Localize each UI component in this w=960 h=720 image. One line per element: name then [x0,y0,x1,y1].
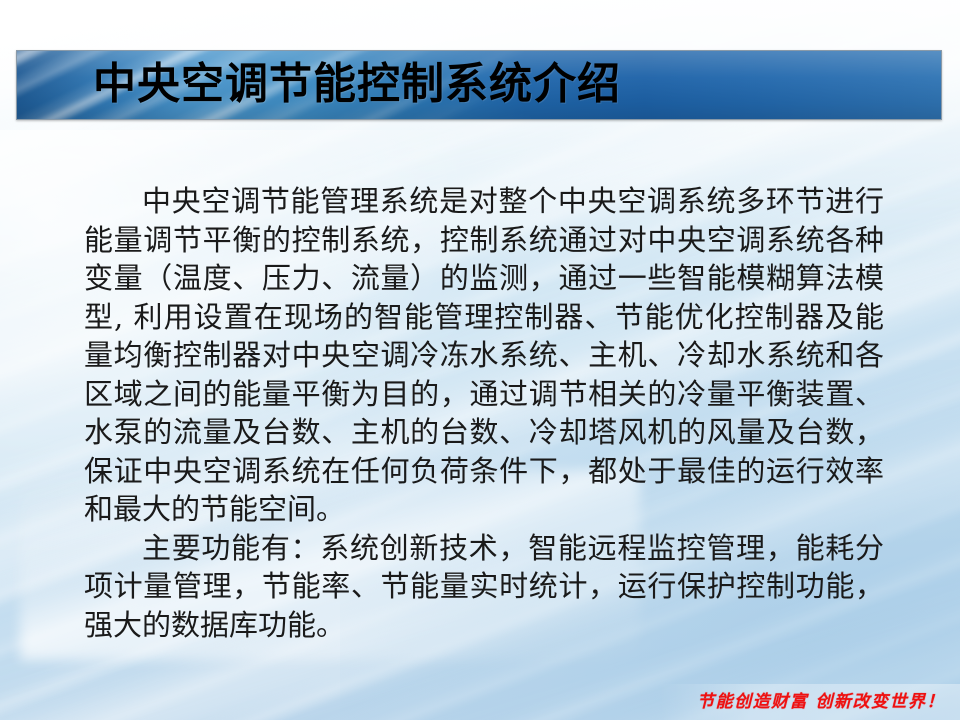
slide-body: 中央空调节能管理系统是对整个中央空调系统多环节进行能量调节平衡的控制系统，控制系… [84,182,884,644]
footer-slogan: 节能创造财富 创新改变世界！ [697,687,945,712]
slide-title: 中央空调节能控制系统介绍 [93,64,621,107]
body-paragraph-1: 中央空调节能管理系统是对整个中央空调系统多环节进行能量调节平衡的控制系统，控制系… [84,182,884,529]
presentation-slide: 中央空调节能控制系统介绍 中央空调节能管理系统是对整个中央空调系统多环节进行能量… [0,0,960,720]
title-banner: 中央空调节能控制系统介绍 [16,50,942,120]
body-paragraph-2: 主要功能有：系统创新技术，智能远程监控管理，能耗分项计量管理，节能率、节能量实时… [84,529,884,645]
